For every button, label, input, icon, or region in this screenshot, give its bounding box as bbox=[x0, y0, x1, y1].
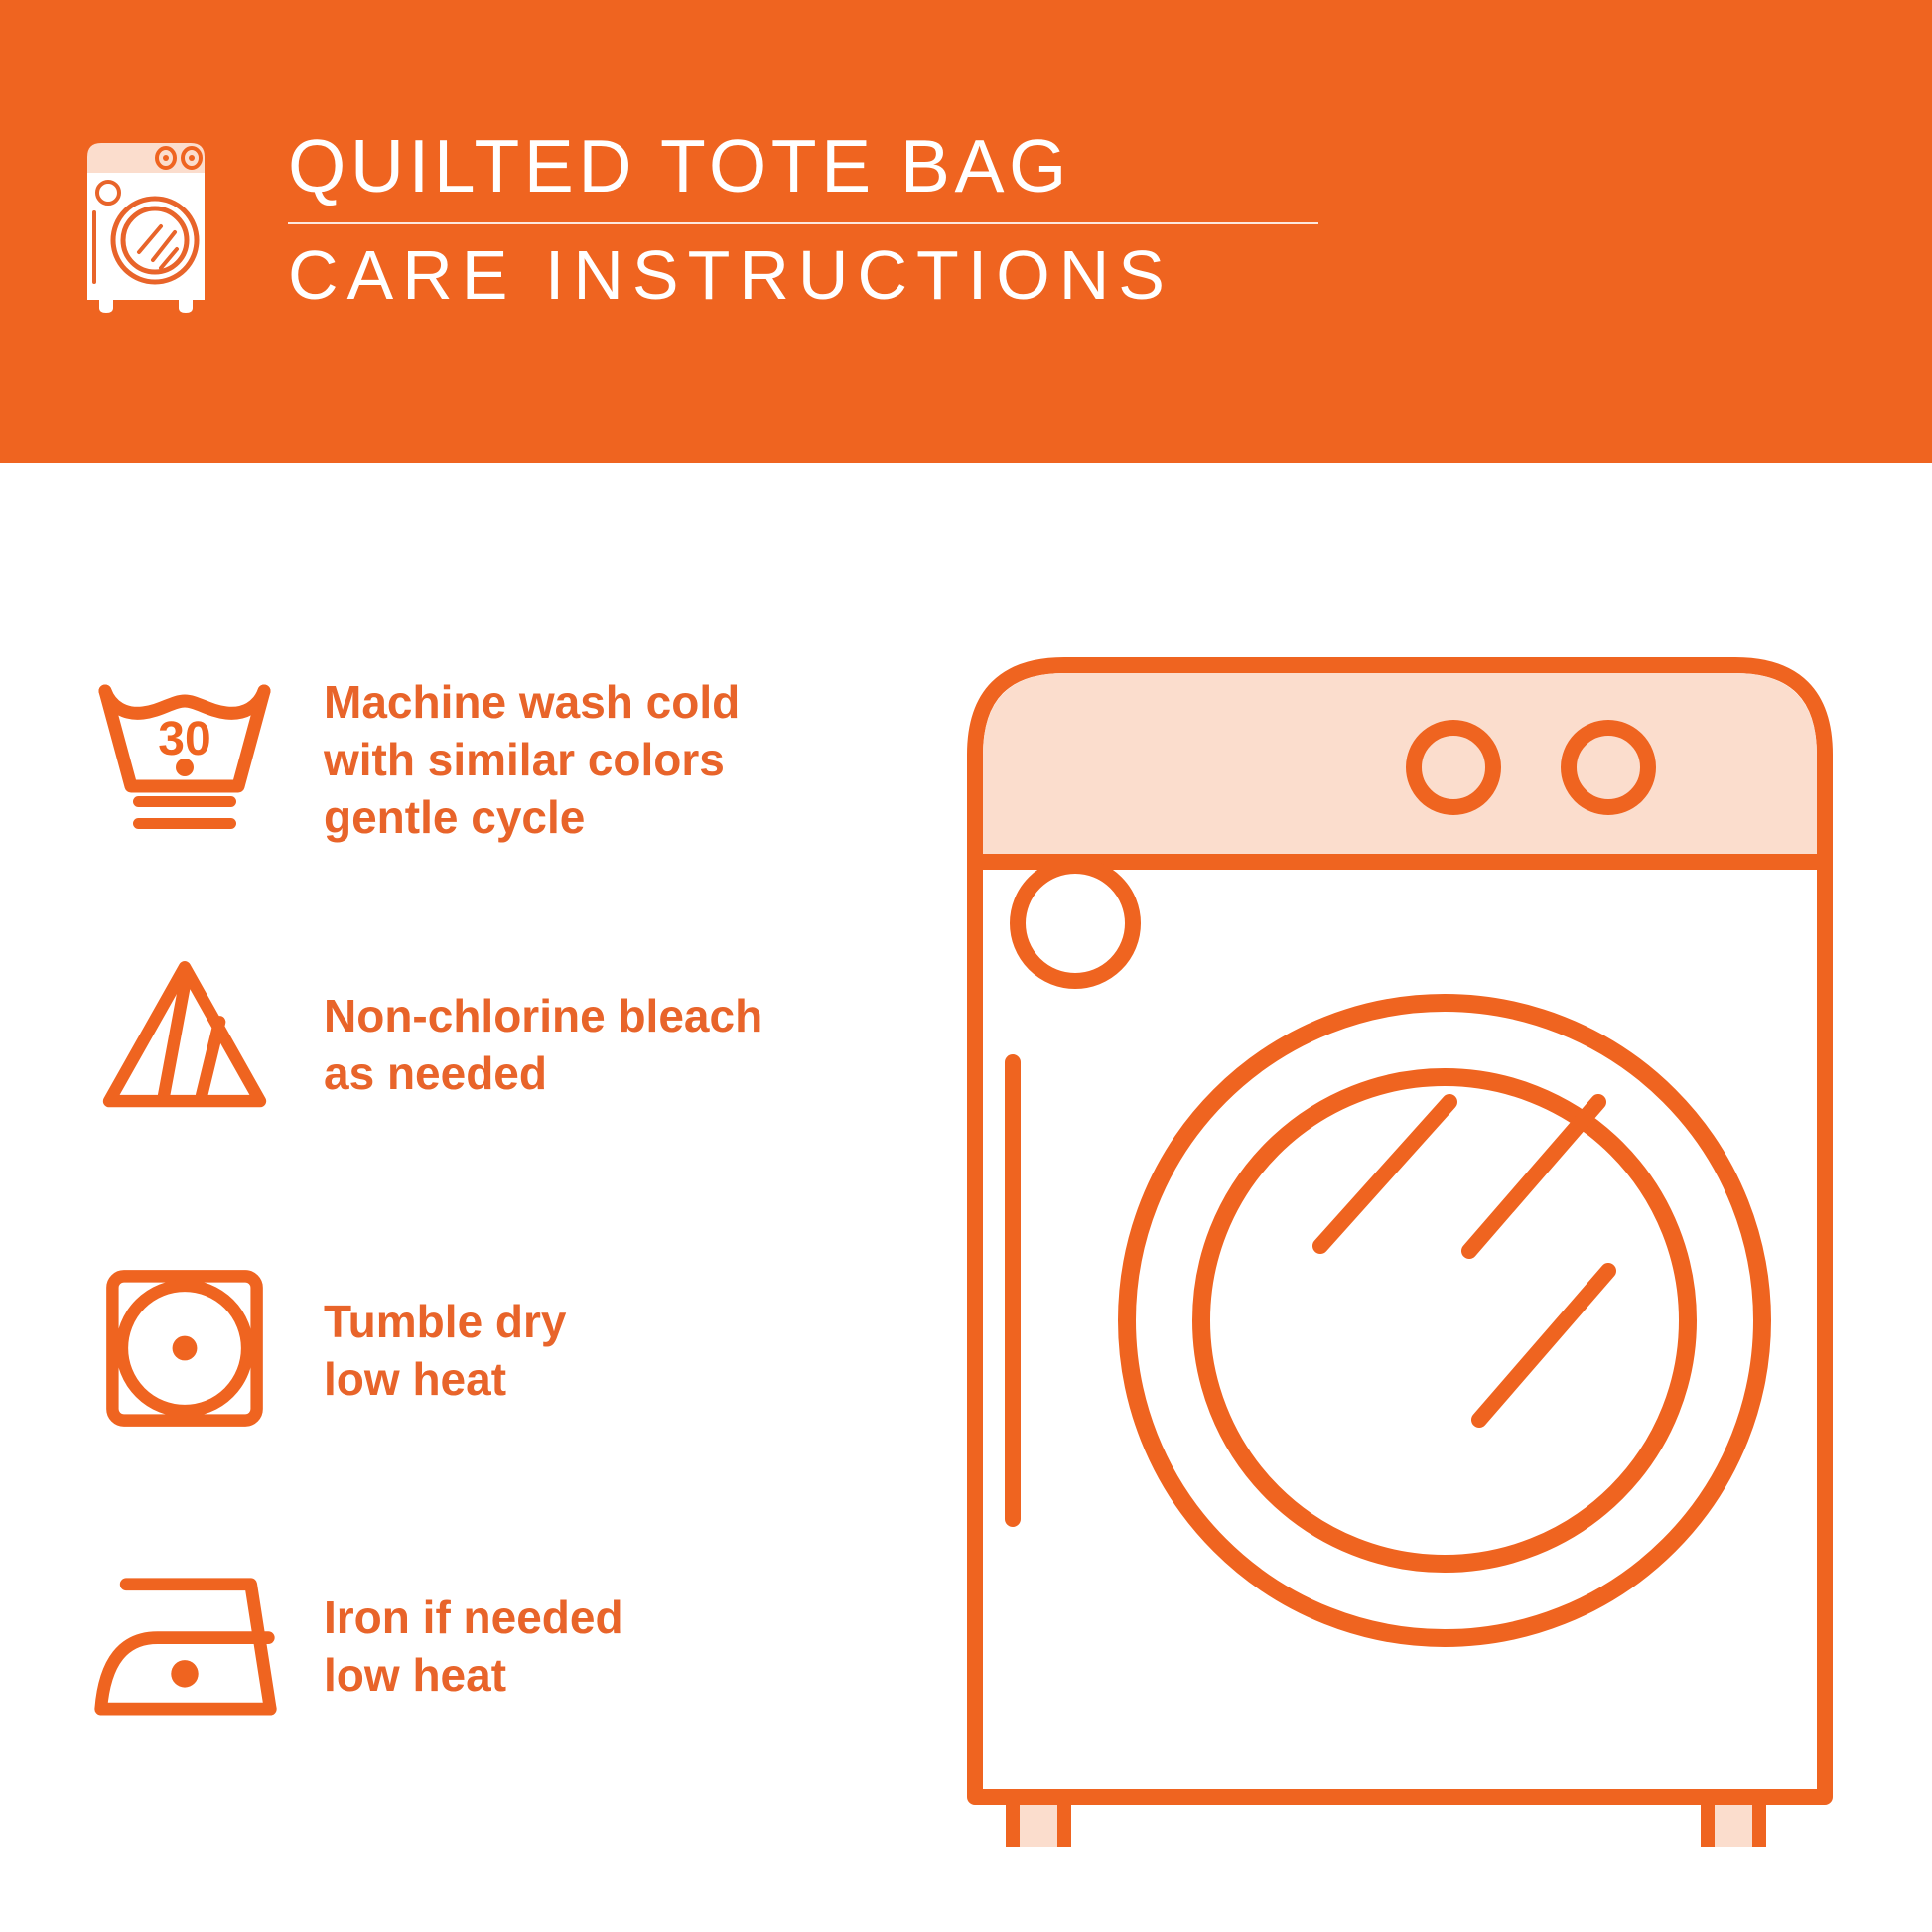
header-band: QUILTED TOTE BAG CARE INSTRUCTIONS bbox=[0, 0, 1932, 463]
care-text-tumble-dry: Tumble dry low heat bbox=[284, 1251, 949, 1408]
care-row-tumble-dry: Tumble dry low heat bbox=[85, 1251, 949, 1446]
tumble-dry-low-heat-icon bbox=[85, 1251, 284, 1446]
care-text-line: Machine wash cold bbox=[324, 673, 949, 731]
machine-control-panel bbox=[983, 673, 1817, 862]
wash-temperature-value: 30 bbox=[158, 713, 210, 765]
care-text-line: with similar colors bbox=[324, 731, 949, 788]
title-divider bbox=[288, 222, 1318, 224]
page-subtitle: CARE INSTRUCTIONS bbox=[288, 238, 1318, 312]
header-title-group: QUILTED TOTE BAG CARE INSTRUCTIONS bbox=[288, 127, 1318, 312]
care-row-iron: Iron if needed low heat bbox=[85, 1545, 949, 1739]
care-instructions-infographic: QUILTED TOTE BAG CARE INSTRUCTIONS 30 bbox=[0, 0, 1932, 1932]
care-text-line: low heat bbox=[324, 1646, 949, 1704]
non-chlorine-bleach-triangle-icon bbox=[85, 947, 284, 1126]
care-text-line: as needed bbox=[324, 1044, 949, 1102]
care-row-wash: 30 Machine wash cold with similar colors… bbox=[85, 661, 949, 856]
care-text-line: Iron if needed bbox=[324, 1588, 949, 1646]
washing-machine-icon bbox=[77, 133, 226, 314]
page-title: QUILTED TOTE BAG bbox=[288, 127, 1318, 205]
care-text-line: low heat bbox=[324, 1350, 949, 1408]
care-text-bleach: Non-chlorine bleach as needed bbox=[284, 947, 949, 1102]
front-load-washing-machine-illustration bbox=[953, 635, 1847, 1847]
wash-tub-30-gentle-icon: 30 bbox=[85, 661, 284, 856]
header-content: QUILTED TOTE BAG CARE INSTRUCTIONS bbox=[77, 127, 1318, 341]
care-text-iron: Iron if needed low heat bbox=[284, 1545, 949, 1704]
care-text-line: Tumble dry bbox=[324, 1293, 949, 1350]
care-instruction-list: 30 Machine wash cold with similar colors… bbox=[85, 661, 949, 1739]
care-text-wash: Machine wash cold with similar colors ge… bbox=[284, 661, 949, 846]
care-text-line: gentle cycle bbox=[324, 788, 949, 846]
care-text-line: Non-chlorine bleach bbox=[324, 987, 949, 1044]
iron-low-heat-icon bbox=[85, 1545, 284, 1739]
care-row-bleach: Non-chlorine bleach as needed bbox=[85, 947, 949, 1142]
